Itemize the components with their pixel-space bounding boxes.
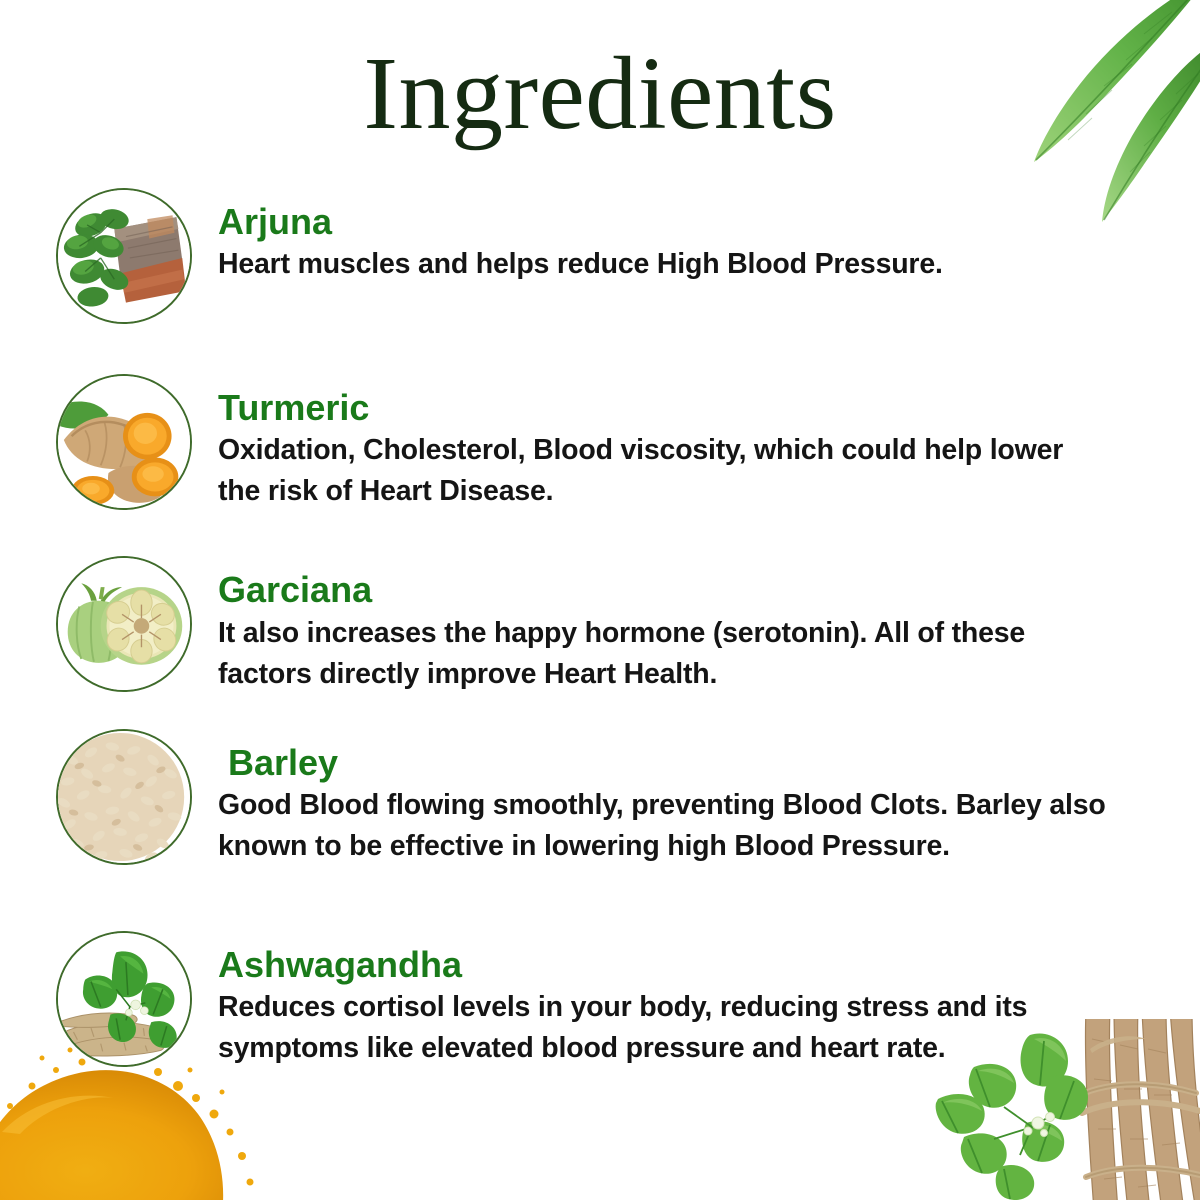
garciana-text-block: Garciana It also increases the happy hor… xyxy=(192,554,1200,694)
ingredient-name: Garciana xyxy=(218,570,1200,610)
ingredient-name: Ashwagandha xyxy=(218,945,1200,985)
ingredient-item-garciana: Garciana It also increases the happy hor… xyxy=(0,554,1200,694)
barley-text-block: Barley Good Blood flowing smoothly, prev… xyxy=(192,727,1200,867)
arjuna-bark-and-leaves-photo xyxy=(56,188,192,324)
ashwagandha-text-block: Ashwagandha Reduces cortisol levels in y… xyxy=(192,929,1200,1069)
ingredient-description: Good Blood flowing smoothly, preventing … xyxy=(218,785,1118,867)
ingredient-item-barley: Barley Good Blood flowing smoothly, prev… xyxy=(0,727,1200,867)
ingredient-item-turmeric: Turmeric Oxidation, Cholesterol, Blood v… xyxy=(0,372,1200,512)
arjuna-text-block: Arjuna Heart muscles and helps reduce Hi… xyxy=(192,186,1200,285)
ingredient-description: It also increases the happy hormone (ser… xyxy=(218,613,1118,695)
page-title: Ingredients xyxy=(0,38,1200,150)
ashwagandha-root-and-leaves-photo xyxy=(56,931,192,1067)
ingredient-description: Heart muscles and helps reduce High Bloo… xyxy=(218,244,1118,285)
ingredient-list: Arjuna Heart muscles and helps reduce Hi… xyxy=(0,186,1200,1070)
ingredient-name: Turmeric xyxy=(218,388,1200,428)
barley-grains-photo xyxy=(56,729,192,865)
ingredient-description: Oxidation, Cholesterol, Blood viscosity,… xyxy=(218,430,1098,512)
ingredient-item-ashwagandha: Ashwagandha Reduces cortisol levels in y… xyxy=(0,929,1200,1069)
ingredients-poster: Ingredients xyxy=(0,0,1200,1200)
ingredient-item-arjuna: Arjuna Heart muscles and helps reduce Hi… xyxy=(0,186,1200,324)
ingredient-name: Barley xyxy=(218,743,1200,783)
turmeric-rhizome-photo xyxy=(56,374,192,510)
garcinia-fruit-photo xyxy=(56,556,192,692)
ingredient-description: Reduces cortisol levels in your body, re… xyxy=(218,987,1118,1069)
turmeric-text-block: Turmeric Oxidation, Cholesterol, Blood v… xyxy=(192,372,1200,512)
ingredient-name: Arjuna xyxy=(218,202,1200,242)
